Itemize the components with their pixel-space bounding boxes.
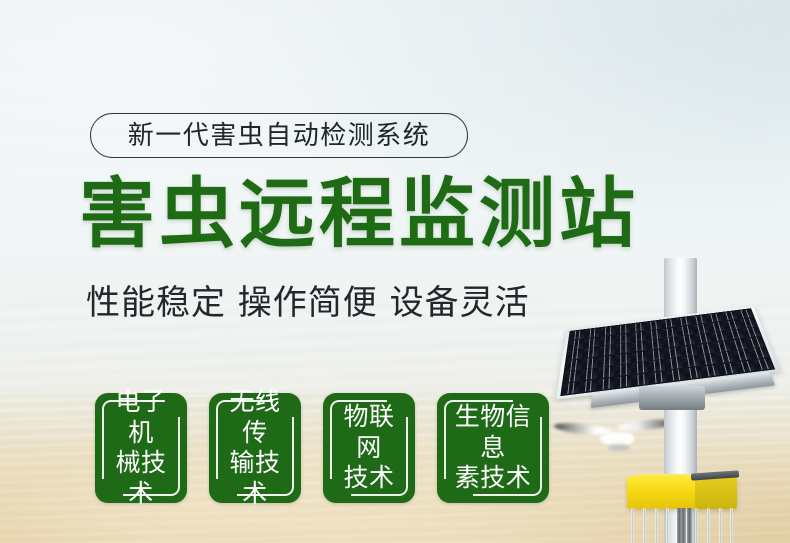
- feature-tag-label: 物联网 技术: [332, 402, 406, 494]
- solar-cell: [597, 377, 613, 390]
- page-subtitle: 性能稳定 操作简便 设备灵活: [86, 286, 530, 320]
- collection-rod: [730, 508, 733, 543]
- solar-cell: [632, 362, 648, 374]
- collection-rod: [707, 508, 710, 543]
- solar-cell: [581, 368, 597, 380]
- collection-rods: [629, 508, 737, 543]
- solar-cell: [598, 366, 614, 378]
- solar-cell: [749, 347, 768, 359]
- collection-rod: [655, 508, 658, 543]
- feature-tag-label: 电子机 械技术: [104, 387, 178, 509]
- solar-cell: [632, 373, 648, 386]
- collection-rod: [643, 508, 646, 543]
- solar-cell: [736, 360, 755, 373]
- collection-rod: [687, 508, 692, 543]
- solar-cell: [615, 364, 631, 376]
- tagline-badge: 新一代害虫自动检测系统: [90, 113, 468, 158]
- solar-cell: [650, 371, 667, 384]
- solar-cell: [684, 367, 702, 380]
- feature-tag-label: 无线传 输技术: [218, 387, 292, 509]
- solar-cell: [615, 375, 631, 388]
- feature-tag-list: 电子机 械技术 无线传 输技术 物联网 技术 生物信息 素技术: [95, 393, 549, 503]
- collection-rod: [631, 508, 634, 543]
- feature-tag-pheromone: 生物信息 素技术: [437, 393, 549, 503]
- solar-cell: [564, 370, 581, 382]
- collection-rod: [666, 508, 669, 543]
- solar-cell: [753, 358, 773, 371]
- feature-tag-label: 生物信息 素技术: [446, 402, 540, 494]
- solar-cell: [699, 353, 717, 365]
- tagline-badge-label: 新一代害虫自动检测系统: [128, 123, 431, 149]
- collection-rod: [695, 508, 698, 543]
- solar-cell: [733, 349, 752, 361]
- solar-cell: [562, 382, 579, 395]
- feature-tag-iot: 物联网 技术: [323, 393, 415, 503]
- collection-rod: [719, 508, 722, 543]
- solar-cell: [649, 360, 665, 372]
- solar-cell: [701, 364, 719, 377]
- solar-cell: [719, 362, 738, 375]
- panel-mount-box: [639, 386, 705, 410]
- solar-cell: [682, 355, 699, 367]
- product-banner: 新一代害虫自动检测系统 害虫远程监测站 性能稳定 操作简便 设备灵活 电子机 械…: [0, 0, 790, 543]
- feature-tag-electromechanical: 电子机 械技术: [95, 393, 187, 503]
- solar-cell: [580, 380, 597, 393]
- solar-cell: [667, 369, 684, 382]
- solar-cell: [666, 358, 683, 370]
- collection-rod: [681, 508, 686, 543]
- device-housing-side: [695, 476, 737, 509]
- solar-cell: [716, 351, 734, 363]
- monitoring-station-image: [543, 236, 790, 543]
- feature-tag-wireless-transmission: 无线传 输技术: [209, 393, 301, 503]
